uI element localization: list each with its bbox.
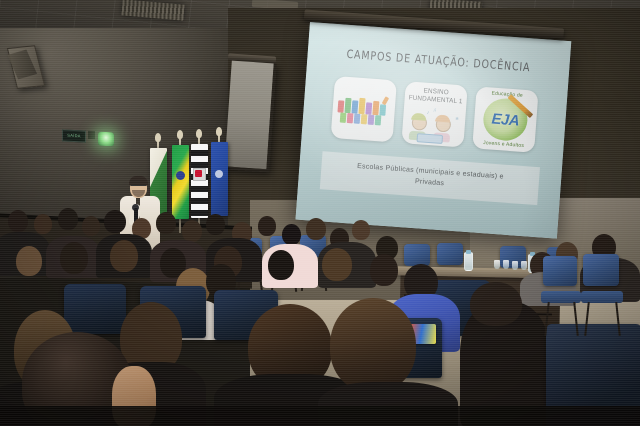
front-chair (583, 254, 623, 303)
audience-head (60, 242, 88, 274)
slide-card-letters (331, 76, 397, 142)
exit-sign-label: SAÍDA (63, 130, 85, 141)
flag-cloth (211, 142, 228, 216)
music-note-icon: ✻ (455, 116, 459, 121)
chair-back (543, 256, 577, 286)
front-chair (543, 256, 581, 303)
side-projection-screen (224, 61, 276, 173)
audience-head (306, 218, 326, 240)
audience-head (58, 208, 78, 230)
audience-head (268, 250, 294, 280)
wall-switch-plate (88, 131, 95, 139)
emergency-light-icon (98, 132, 114, 147)
audience-head (330, 298, 416, 392)
flag-finial (216, 127, 222, 136)
foreground-shadow (0, 406, 640, 426)
audience-head (182, 220, 202, 242)
audience-head (104, 210, 126, 233)
audience-head (282, 224, 301, 245)
glasses-icon (131, 185, 146, 189)
flag-finial (177, 130, 183, 139)
audience (0, 206, 640, 426)
slide-card-ensino-fundamental: ENSINO FUNDAMENTAL 1 ♪ (401, 81, 467, 147)
exit-sign: SAÍDA (62, 129, 86, 142)
audience-head (352, 220, 370, 240)
audience-chair (64, 284, 126, 334)
auditorium-photo: SAÍDA CAMPOS DE ATUAÇÃO: DOCÊNCIA (0, 0, 640, 426)
audience-head (34, 214, 52, 234)
audience-head (206, 214, 225, 235)
slide-card-row: ENSINO FUNDAMENTAL 1 ♪ (302, 74, 568, 155)
music-note-icon: ♫ (433, 107, 437, 113)
flag-finial (155, 133, 161, 142)
audience-head (156, 212, 176, 234)
slide-title: CAMPOS DE ATUAÇÃO: DOCÊNCIA (318, 45, 559, 77)
audience-head (470, 282, 522, 326)
audience-head (370, 254, 398, 286)
slide-caption: Escolas Públicas (municipais e estaduais… (320, 151, 540, 205)
audience-head (258, 216, 276, 236)
audience-head (82, 216, 100, 236)
colorful-letters-graphic (337, 90, 391, 128)
music-note-icon: ♪ (426, 110, 429, 116)
eja-ring-bottom-label: Jovens e Adultos (472, 139, 534, 150)
slide-card-ensino-label: ENSINO FUNDAMENTAL 1 (408, 86, 464, 105)
audience-head (8, 210, 28, 232)
slide-card-eja: Educação de EJA Jovens e Adultos (472, 86, 538, 152)
chair-back (583, 254, 619, 286)
eja-acronym-label: EJA (474, 109, 537, 130)
audience-head (322, 248, 352, 281)
flag-finial (196, 129, 202, 138)
audience-head (110, 240, 138, 272)
audience-head (16, 246, 42, 276)
